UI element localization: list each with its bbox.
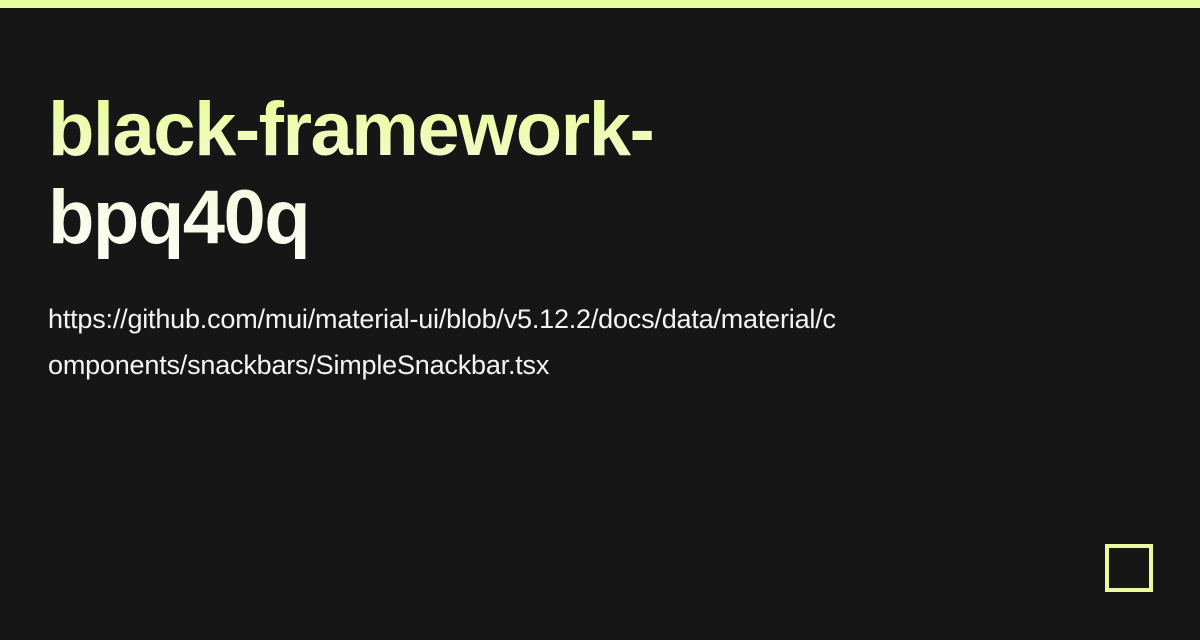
page-root: black-framework-bpq40q https://github.co…: [0, 0, 1200, 640]
content-container: black-framework-bpq40q https://github.co…: [48, 8, 1148, 388]
page-title: black-framework-bpq40q: [48, 8, 748, 262]
top-accent-bar: [0, 0, 1200, 8]
square-outline-icon: [1105, 544, 1153, 592]
source-url-text: https://github.com/mui/material-ui/blob/…: [48, 262, 838, 388]
